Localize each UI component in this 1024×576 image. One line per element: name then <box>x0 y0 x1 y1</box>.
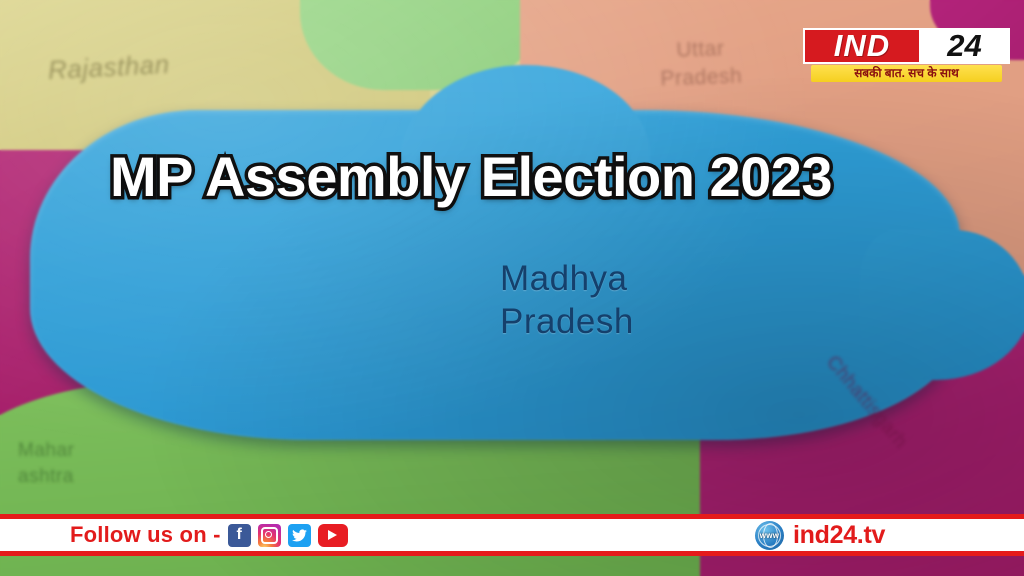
globe-www-label: www <box>760 531 780 540</box>
channel-logo-24: 24 <box>921 28 1010 64</box>
headline-title: MP Assembly Election 2023 <box>110 144 832 209</box>
twitter-icon[interactable] <box>288 524 311 547</box>
facebook-icon-glyph: f <box>237 527 242 543</box>
instagram-icon[interactable] <box>258 524 281 547</box>
twitter-bird-glyph <box>292 529 307 542</box>
channel-logo-wordmark: IND 24 <box>803 28 1010 64</box>
channel-logo-tagline: सबकी बात. सच के साथ <box>811 65 1002 82</box>
footer-website-group[interactable]: www ind24.tv <box>755 521 885 550</box>
footer-social-group: Follow us on - f <box>70 522 348 548</box>
globe-icon: www <box>755 521 784 550</box>
channel-logo-ind: IND <box>803 28 921 64</box>
india-puzzle-map-background: Rajasthan Uttar Pradesh Madhya Pradesh M… <box>0 0 1024 576</box>
follow-us-label: Follow us on - <box>70 522 221 548</box>
channel-logo: IND 24 सबकी बात. सच के साथ <box>803 28 1010 82</box>
footer-follow-bar: Follow us on - f www ind24.tv <box>0 514 1024 556</box>
youtube-icon[interactable] <box>318 524 348 547</box>
facebook-icon[interactable]: f <box>228 524 251 547</box>
youtube-play-glyph <box>328 530 337 540</box>
website-url[interactable]: ind24.tv <box>793 521 885 550</box>
instagram-icon-glyph <box>261 527 278 544</box>
broadcast-news-frame: Rajasthan Uttar Pradesh Madhya Pradesh M… <box>0 0 1024 576</box>
